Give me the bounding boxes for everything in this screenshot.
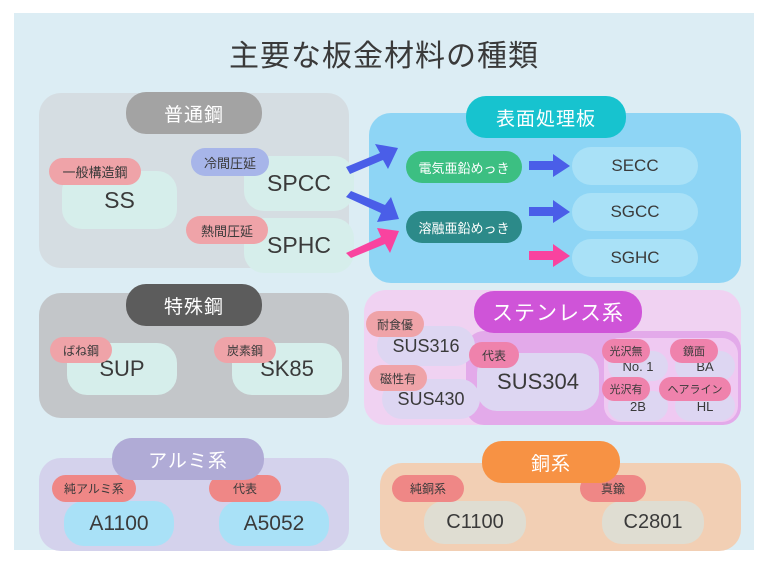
tag-pure-copper: 純銅系 — [392, 475, 464, 502]
tag-corrosion-resistant: 耐食優 — [366, 311, 424, 337]
tag-general-structural-steel: 一般構造鋼 — [49, 158, 141, 185]
arrow-electro-to-secc-icon — [529, 154, 571, 178]
card-a1100[interactable]: A1100 — [64, 501, 174, 546]
tag-hot-rolled: 熱間圧延 — [186, 216, 268, 244]
page-title: 主要な板金材料の種類 — [14, 31, 754, 75]
section-header-stainless: ステンレス系 — [474, 291, 642, 333]
arrow-hotdip-to-sgcc-icon — [529, 200, 571, 224]
card-a5052[interactable]: A5052 — [219, 501, 329, 546]
arrow-hotdip-to-sghc-icon — [529, 244, 571, 268]
card-secc[interactable]: SECC — [572, 147, 698, 185]
section-header-special-steel: 特殊鋼 — [126, 284, 262, 326]
section-header-surface-treated: 表面処理板 — [466, 96, 626, 138]
card-sgcc[interactable]: SGCC — [572, 193, 698, 231]
tag-hairline: ヘアライン — [659, 377, 731, 401]
tag-spring-steel: ばね鋼 — [50, 337, 112, 363]
arrow-sphc-to-hotdip-icon — [344, 224, 400, 258]
tag-mirror: 鏡面 — [670, 339, 718, 363]
arrow-spcc-to-hotdip-icon — [344, 191, 400, 227]
tag-cold-rolled: 冷間圧延 — [191, 148, 269, 176]
arrow-spcc-to-electro-icon — [344, 141, 400, 175]
tag-no-gloss: 光沢無 — [602, 339, 650, 363]
section-header-aluminium: アルミ系 — [112, 438, 264, 480]
process-hot-dip-galvanized[interactable]: 溶融亜鉛めっき — [406, 211, 522, 243]
card-c1100[interactable]: C1100 — [424, 501, 526, 544]
section-header-normal-steel: 普通鋼 — [126, 92, 262, 134]
tag-representative-stainless: 代表 — [469, 342, 519, 368]
process-electro-galvanized[interactable]: 電気亜鉛めっき — [406, 151, 522, 183]
card-c2801[interactable]: C2801 — [602, 501, 704, 544]
tag-magnetic: 磁性有 — [369, 365, 427, 391]
tag-glossy: 光沢有 — [602, 377, 650, 401]
tag-carbon-steel: 炭素鋼 — [214, 337, 276, 363]
section-header-copper: 銅系 — [482, 441, 620, 483]
tag-pure-aluminium: 純アルミ系 — [52, 475, 136, 502]
card-sghc[interactable]: SGHC — [572, 239, 698, 277]
infographic-canvas: 主要な板金材料の種類 普通鋼 SS 一般構造鋼 SPCC 冷間圧延 SPHC 熱… — [14, 13, 754, 550]
